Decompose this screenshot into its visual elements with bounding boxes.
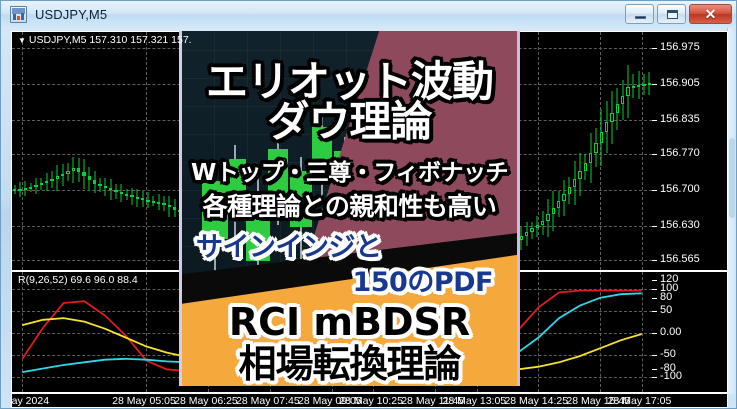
candlestick (88, 32, 91, 270)
rci-tick-mark (652, 377, 657, 378)
collapse-arrow-icon[interactable]: ▼ (18, 36, 26, 45)
promo-overlay-image: エリオット波動 ダウ理論 Wトップ・三尊・フィボナッチ 各種理論との親和性も高い… (179, 31, 520, 386)
time-axis-label: 28 May 10:25 (339, 395, 403, 407)
candlestick (536, 32, 539, 270)
price-tick-label: 156.630 (660, 219, 700, 231)
candlestick (546, 32, 549, 270)
price-tick-label: 156.565 (660, 253, 700, 265)
price-tick-label: 156.835 (660, 113, 700, 125)
time-axis-label: 28 May 14:25 (504, 395, 568, 407)
candlestick (141, 32, 144, 270)
candlestick (56, 32, 59, 270)
maximize-button[interactable] (657, 4, 686, 24)
time-axis-label: 28 May 13:05 (443, 395, 507, 407)
candlestick (45, 32, 48, 270)
price-tick-mark (652, 120, 657, 121)
time-axis-label: 28 May 2024 (11, 395, 49, 407)
candlestick (120, 32, 123, 270)
price-tick-label: 156.905 (660, 77, 700, 89)
rci-tick-mark (652, 355, 657, 356)
candlestick (50, 32, 53, 270)
candlestick (66, 32, 69, 270)
candlestick (104, 32, 107, 270)
minimize-icon (635, 16, 646, 19)
time-axis-label: 28 May 06:25 (174, 395, 238, 407)
candlestick (626, 32, 629, 270)
window-title: USDJPY,M5 (35, 7, 107, 22)
candlestick (82, 32, 85, 270)
candlestick (152, 32, 155, 270)
candlestick (98, 32, 101, 270)
candlestick (637, 32, 640, 270)
rci-tick-mark (652, 311, 657, 312)
candlestick (552, 32, 555, 270)
candlestick (621, 32, 624, 270)
minimize-button[interactable] (625, 4, 654, 24)
candlestick (136, 32, 139, 270)
chart-app-icon (10, 6, 27, 23)
candlestick (130, 32, 133, 270)
rci-tick-label: 0.00 (660, 326, 681, 338)
close-icon: ✕ (690, 5, 731, 23)
candlestick (168, 32, 171, 270)
time-axis-label: 28 May 05:05 (112, 395, 176, 407)
rci-tick-mark (652, 280, 657, 281)
overlay-headline-2: ダウ理論 (182, 101, 517, 143)
price-tick-label: 156.770 (660, 147, 700, 159)
overlay-footer-1: RCI mBDSR (182, 303, 517, 341)
candlestick (557, 32, 560, 270)
candlestick (525, 32, 528, 270)
price-tick-mark (652, 260, 657, 261)
price-tick-label: 156.700 (660, 183, 700, 195)
rci-tick-mark (652, 298, 657, 299)
rci-tick-mark (652, 333, 657, 334)
candlestick (61, 32, 64, 270)
candlestick (605, 32, 608, 270)
scrollbar-thumb[interactable] (729, 138, 735, 218)
overlay-footer-2: 相場転換理論 (182, 345, 517, 383)
overlay-subline-2: 各種理論との親和性も高い (182, 194, 517, 219)
price-tick-mark (652, 84, 657, 85)
candlestick (541, 32, 544, 270)
rci-tick-label: -50 (660, 348, 676, 360)
candlestick (573, 32, 576, 270)
candlestick (632, 32, 635, 270)
window-titlebar[interactable]: USDJPY,M5 ✕ (1, 1, 736, 28)
candlestick (173, 32, 176, 270)
price-tick-label: 156.975 (660, 41, 700, 53)
maximize-icon (667, 10, 678, 19)
price-tick-mark (652, 154, 657, 155)
candlestick (114, 32, 117, 270)
candlestick (24, 32, 27, 270)
close-button[interactable]: ✕ (689, 4, 732, 24)
candlestick (616, 32, 619, 270)
overlay-blue-line-1: サインインジと (182, 234, 517, 261)
candlestick (562, 32, 565, 270)
candlestick (72, 32, 75, 270)
candlestick (594, 32, 597, 270)
mt4-chart-window: USDJPY,M5 ✕ ▼USDJPY,M5 157.310 157.321 1… (0, 0, 737, 409)
window-controls: ✕ (625, 4, 732, 24)
candlestick (648, 32, 651, 270)
overlay-blue-line-2: 150のPDF (182, 269, 517, 296)
candlestick (530, 32, 533, 270)
price-tick-mark (652, 226, 657, 227)
candlestick (40, 32, 43, 270)
overlay-subline-1: Wトップ・三尊・フィボナッチ (182, 162, 517, 185)
candlestick (578, 32, 581, 270)
candlestick (29, 32, 32, 270)
candlestick (642, 32, 645, 270)
candlestick (93, 32, 96, 270)
rci-scale[interactable]: 12010080500.00-50-80-100 (652, 272, 727, 392)
time-axis-label: 28 May 07:45 (236, 395, 300, 407)
price-scale[interactable]: 156.975156.905156.835156.770156.700156.6… (652, 32, 727, 270)
price-pane-label: ▼USDJPY,M5 157.310 157.321 157. (18, 34, 192, 46)
candlestick (157, 32, 160, 270)
rci-tick-label: 50 (660, 304, 672, 316)
candlestick (109, 32, 112, 270)
candlestick (568, 32, 571, 270)
candlestick (146, 32, 149, 270)
time-axis-label: 28 May 17:05 (608, 395, 672, 407)
window-scrollbar[interactable] (727, 28, 736, 394)
candlestick (77, 32, 80, 270)
candlestick (13, 32, 16, 270)
candlestick (589, 32, 592, 270)
price-tick-mark (652, 190, 657, 191)
candlestick (520, 32, 523, 270)
rci-pane-label: R(9,26,52) 69.6 96.0 88.4 (18, 274, 138, 286)
time-axis[interactable]: 28 May 202428 May 05:0528 May 06:2528 Ma… (11, 393, 728, 408)
candlestick (34, 32, 37, 270)
candlestick (162, 32, 165, 270)
candlestick (600, 32, 603, 270)
candlestick (125, 32, 128, 270)
candlestick (18, 32, 21, 270)
rci-tick-label: -100 (660, 370, 682, 382)
candlestick (610, 32, 613, 270)
rci-tick-mark (652, 369, 657, 370)
price-tick-mark (652, 48, 657, 49)
rci-tick-mark (652, 289, 657, 290)
candlestick (584, 32, 587, 270)
rci-tick-label: 80 (660, 291, 672, 303)
